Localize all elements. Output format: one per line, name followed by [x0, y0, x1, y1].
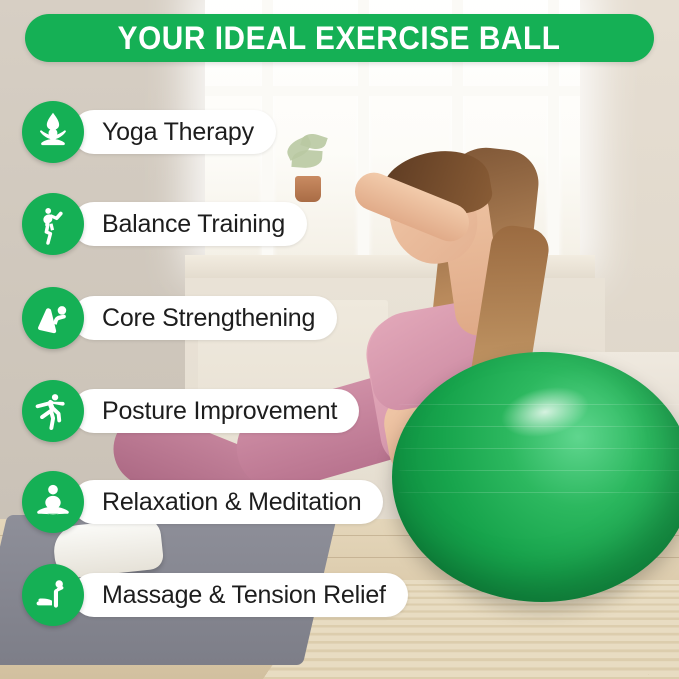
- tree-pose-balance-icon: [22, 193, 84, 255]
- feature-label: Massage & Tension Relief: [102, 581, 386, 610]
- warrior-pose-stretch-icon: [22, 380, 84, 442]
- feature-pill: Core Strengthening: [72, 296, 337, 340]
- window-mullion: [205, 86, 580, 96]
- feature-row-posture-improvement[interactable]: Posture Improvement: [22, 379, 359, 443]
- header-banner: YOUR IDEAL EXERCISE BALL: [25, 14, 654, 62]
- feature-pill: Yoga Therapy: [72, 110, 276, 154]
- feature-label: Posture Improvement: [102, 397, 337, 426]
- yoga-lotus-arms-up-icon: [22, 101, 84, 163]
- sit-up-crunch-icon: [22, 287, 84, 349]
- product-infographic: YOUR IDEAL EXERCISE BALL Yoga Therapy Ba…: [0, 0, 679, 679]
- feature-pill: Relaxation & Meditation: [72, 480, 383, 524]
- feature-row-massage-tension-relief[interactable]: Massage & Tension Relief: [22, 563, 408, 627]
- meditation-seated-icon: [22, 471, 84, 533]
- feature-row-relaxation-meditation[interactable]: Relaxation & Meditation: [22, 470, 383, 534]
- feature-row-core-strengthening[interactable]: Core Strengthening: [22, 286, 337, 350]
- feature-label: Balance Training: [102, 210, 285, 239]
- page-title: YOUR IDEAL EXERCISE BALL: [118, 20, 561, 57]
- feature-pill: Massage & Tension Relief: [72, 573, 408, 617]
- feature-row-yoga-therapy[interactable]: Yoga Therapy: [22, 100, 276, 164]
- feature-label: Core Strengthening: [102, 304, 315, 333]
- feature-pill: Balance Training: [72, 202, 307, 246]
- feature-row-balance-training[interactable]: Balance Training: [22, 192, 307, 256]
- feature-pill: Posture Improvement: [72, 389, 359, 433]
- feature-label: Yoga Therapy: [102, 118, 254, 147]
- feature-label: Relaxation & Meditation: [102, 488, 361, 517]
- massage-lying-icon: [22, 564, 84, 626]
